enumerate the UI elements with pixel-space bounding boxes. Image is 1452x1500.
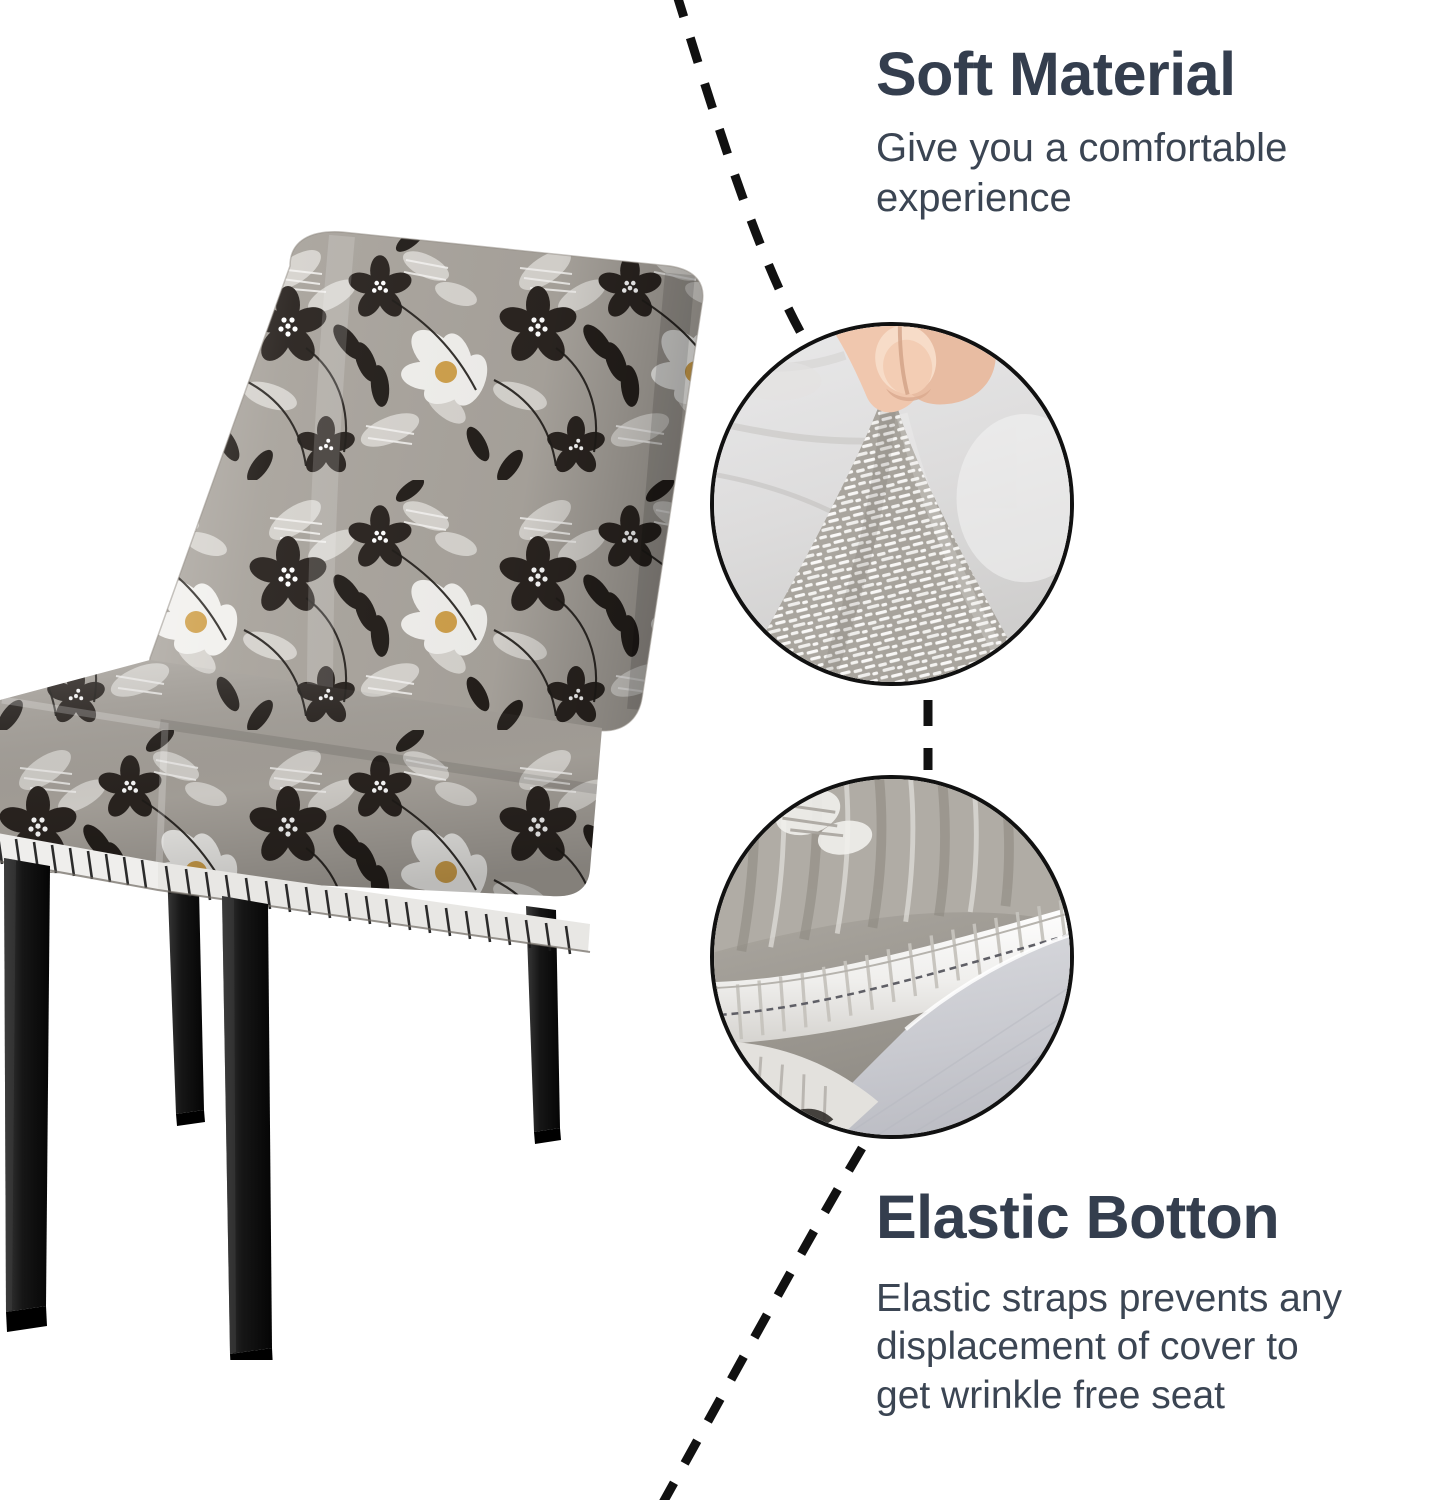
chair-leg-front-left — [4, 858, 50, 1332]
soft-material-subcopy-line-2: experience — [876, 176, 1072, 220]
chair-leg-front-right — [222, 896, 273, 1360]
elastic-hem-photo — [714, 779, 1070, 1135]
elastic-botton-subcopy-line-3: get wrinkle free seat — [876, 1374, 1225, 1417]
elastic-botton-subcopy-line-1: Elastic straps prevents any — [876, 1277, 1342, 1320]
elastic-botton-text-block: Elastic Botton Elastic straps prevents a… — [876, 1185, 1436, 1420]
elastic-botton-detail-circle — [710, 775, 1074, 1139]
fabric-stretch-photo — [714, 326, 1070, 682]
soft-material-subcopy-line-1: Give you a comfortable — [876, 126, 1287, 170]
elastic-botton-subcopy: Elastic straps prevents any displacement… — [876, 1275, 1436, 1420]
elastic-botton-subcopy-line-2: displacement of cover to — [876, 1325, 1299, 1368]
soft-material-detail-circle — [710, 322, 1074, 686]
soft-material-text-block: Soft Material Give you a comfortable exp… — [876, 42, 1396, 223]
elastic-botton-heading: Elastic Botton — [876, 1185, 1436, 1249]
product-chair-image — [0, 230, 720, 1360]
chair-illustration — [0, 230, 720, 1360]
soft-material-heading: Soft Material — [876, 42, 1396, 106]
infographic-canvas: Soft Material Give you a comfortable exp… — [0, 0, 1452, 1500]
soft-material-subcopy: Give you a comfortable experience — [876, 124, 1396, 223]
